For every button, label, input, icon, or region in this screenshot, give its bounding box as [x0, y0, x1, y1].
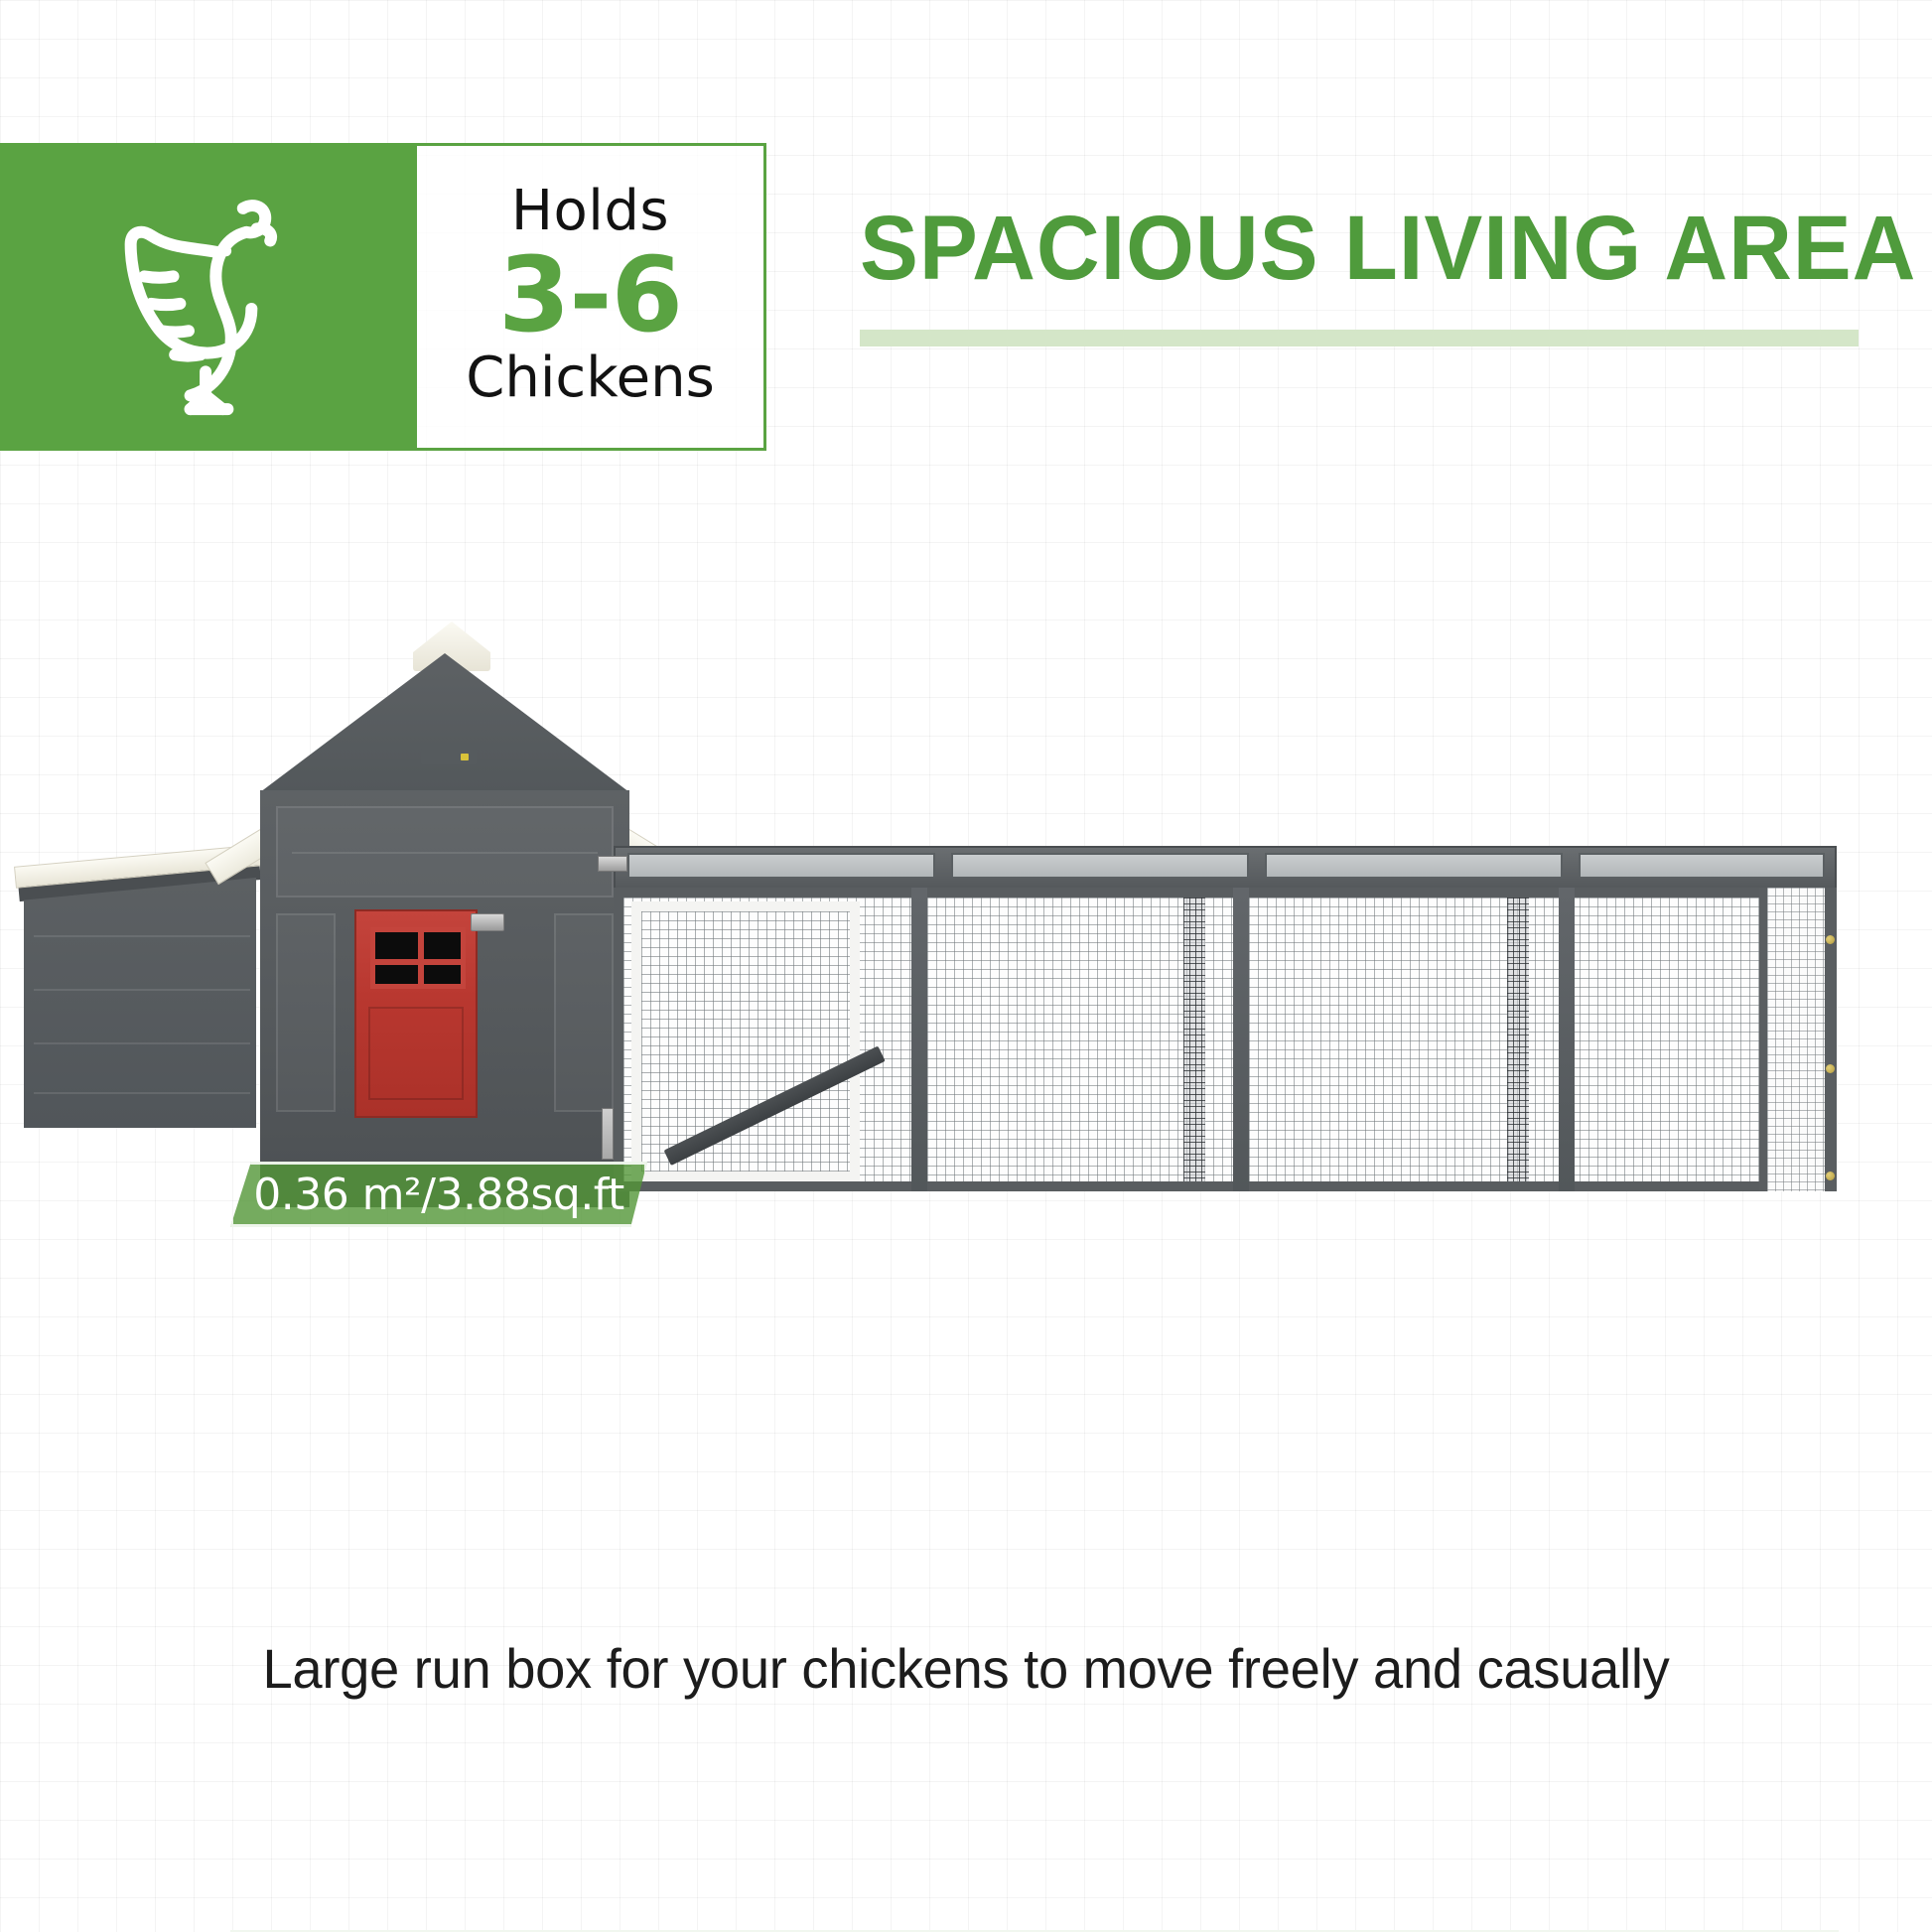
caption-text: Large run box for your chickens to move … [29, 1636, 1903, 1701]
badge-text-panel: Holds 3-6 Chickens [417, 143, 766, 451]
coop-side-panel-right [554, 913, 614, 1112]
coop-house [236, 608, 653, 1213]
door-lower-panel [368, 1007, 464, 1100]
run-door-latch-icon[interactable] [602, 1108, 614, 1160]
page-title: SPACIOUS LIVING AREA [860, 203, 1832, 294]
run-end-face [1759, 888, 1837, 1191]
headline-block: SPACIOUS LIVING AREA [860, 203, 1872, 346]
run-post [911, 888, 927, 1191]
run-inner-mesh-post [1507, 897, 1529, 1181]
product-illustration: 0.36 m²/3.88sq.ft 1.56 m²/16.8sq.ft [0, 556, 1932, 1608]
run-post [1233, 888, 1249, 1191]
run-roof-lid[interactable] [1265, 853, 1563, 879]
infographic-page: Holds 3-6 Chickens SPACIOUS LIVING AREA [0, 0, 1932, 1932]
badge-unit-label: Chickens [466, 350, 715, 406]
screw-icon [1826, 935, 1835, 944]
coop-upper-panel [276, 806, 614, 897]
coop-area-overlay: 0.36 m²/3.88sq.ft [230, 1162, 647, 1227]
run-roof-lid[interactable] [951, 853, 1249, 879]
coop-area-label: 0.36 m²/3.88sq.ft [253, 1170, 624, 1220]
capacity-badge: Holds 3-6 Chickens [0, 143, 766, 451]
badge-holds-label: Holds [511, 184, 669, 239]
screw-icon [1826, 1172, 1835, 1180]
coop-side-panel-left [276, 913, 336, 1112]
coop-red-door[interactable] [354, 909, 478, 1118]
run-roof-lid[interactable] [1579, 853, 1825, 879]
headline-underline [860, 330, 1859, 346]
badge-capacity-count: 3-6 [498, 241, 682, 348]
screw-icon [1826, 1064, 1835, 1073]
coop-body [260, 790, 629, 1207]
coop-gable [260, 653, 629, 792]
nesting-box-body [24, 878, 256, 1128]
badge-icon-panel [0, 143, 417, 451]
run-enclosure [614, 846, 1837, 1219]
run-post [1559, 888, 1575, 1191]
run-access-door[interactable] [631, 901, 860, 1181]
chicken-icon [102, 178, 316, 416]
run-inner-mesh-post [1183, 897, 1205, 1181]
nesting-box [0, 844, 256, 1132]
door-latch-icon[interactable] [471, 913, 504, 931]
door-window [370, 927, 466, 989]
chicken-ramp [664, 1046, 886, 1166]
run-door-hinge-icon[interactable] [598, 856, 627, 872]
run-roof-lid[interactable] [627, 853, 935, 879]
brand-plate [421, 749, 477, 764]
